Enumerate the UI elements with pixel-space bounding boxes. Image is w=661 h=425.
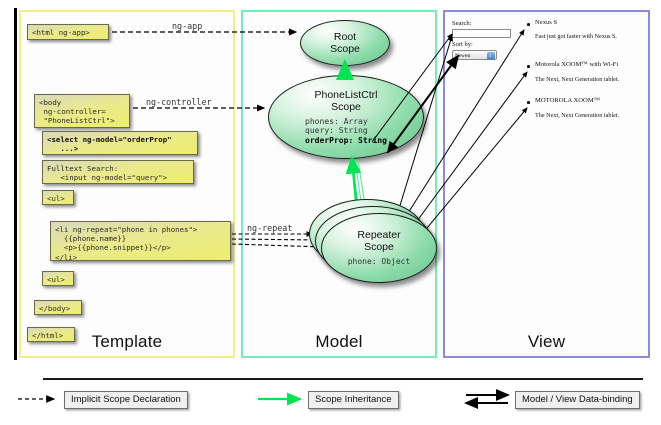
code-box-html-open: <html ng-app> xyxy=(27,24,109,40)
code-box-ul-open: <ul> xyxy=(42,190,74,205)
scope-root-title: Root Scope xyxy=(330,31,360,55)
code-box-input-tag: Fulltext Search: <input ng-model="query"… xyxy=(42,160,194,184)
view-phone-name: Motorola XOOM™ with Wi-Fi xyxy=(535,61,618,68)
panel-model-label: Model xyxy=(243,332,435,352)
view-sort-select[interactable]: Newest xyxy=(452,50,497,60)
view-phone-snippet: The Next, Next Generation tablet. xyxy=(535,76,619,83)
code-box-li-repeat: <li ng-repeat="phone in phones"> {{phone… xyxy=(50,221,231,261)
view-phone-snippet: The Next, Next Generation tablet. xyxy=(535,112,619,119)
code-box-ul-close: <ul> xyxy=(42,271,74,286)
arrow-label-ng-repeat: ng-repeat xyxy=(247,223,292,233)
diagram-canvas: Template Model View <html ng-app> <body … xyxy=(0,0,661,425)
code-box-body-close: </body> xyxy=(34,300,82,315)
view-phone-name: Nexus S xyxy=(535,19,557,26)
list-bullet-icon xyxy=(527,101,530,104)
scope-repeater: Repeater Scope phone: Object xyxy=(321,213,437,283)
view-sort-selected-value: Newest xyxy=(455,53,471,59)
scope-prop-orderprop: orderProp: String xyxy=(305,136,387,146)
scope-repeater-props: phone: Object xyxy=(348,257,411,267)
list-bullet-icon xyxy=(527,65,530,68)
arrow-label-ng-controller: ng-controller xyxy=(146,97,212,107)
arrow-label-ng-app: ng-app xyxy=(172,21,202,31)
code-box-html-close: </html> xyxy=(27,327,75,342)
left-margin-rule xyxy=(14,8,17,360)
legend-item-implicit-scope-declaration: Implicit Scope Declaration xyxy=(64,391,188,409)
scope-prop-phone: phone: Object xyxy=(348,257,411,267)
view-phone-name: MOTOROLA XOOM™ xyxy=(535,97,600,104)
view-sort-label: Sort by: xyxy=(452,41,473,48)
scope-phonelistctrl-title: PhoneListCtrl Scope xyxy=(314,89,377,113)
scope-root: Root Scope xyxy=(300,20,390,66)
panel-view-label: View xyxy=(445,332,648,352)
code-box-select-tag: <select ng-model="orderProp" ...> xyxy=(42,131,198,155)
scope-prop-query: query: String xyxy=(305,126,387,136)
scope-phonelistctrl: PhoneListCtrl Scope phones: Array query:… xyxy=(268,75,424,159)
list-bullet-icon xyxy=(527,23,530,26)
view-search-input[interactable] xyxy=(452,29,511,38)
legend-separator xyxy=(43,378,643,380)
legend-item-model-view-data-binding: Model / View Data-binding xyxy=(515,391,640,409)
scope-prop-phones: phones: Array xyxy=(305,117,387,127)
scope-phonelistctrl-props: phones: Array query: String orderProp: S… xyxy=(305,117,387,146)
view-phone-snippet: Fast just got faster with Nexus S. xyxy=(535,33,617,40)
chevron-updown-icon xyxy=(487,52,495,60)
code-box-body-open: <body ng-controller= "PhoneListCtrl"> xyxy=(34,94,130,128)
scope-repeater-title: Repeater Scope xyxy=(357,229,400,253)
legend-item-scope-inheritance: Scope Inheritance xyxy=(308,391,399,409)
view-search-label: Search: xyxy=(452,20,472,27)
